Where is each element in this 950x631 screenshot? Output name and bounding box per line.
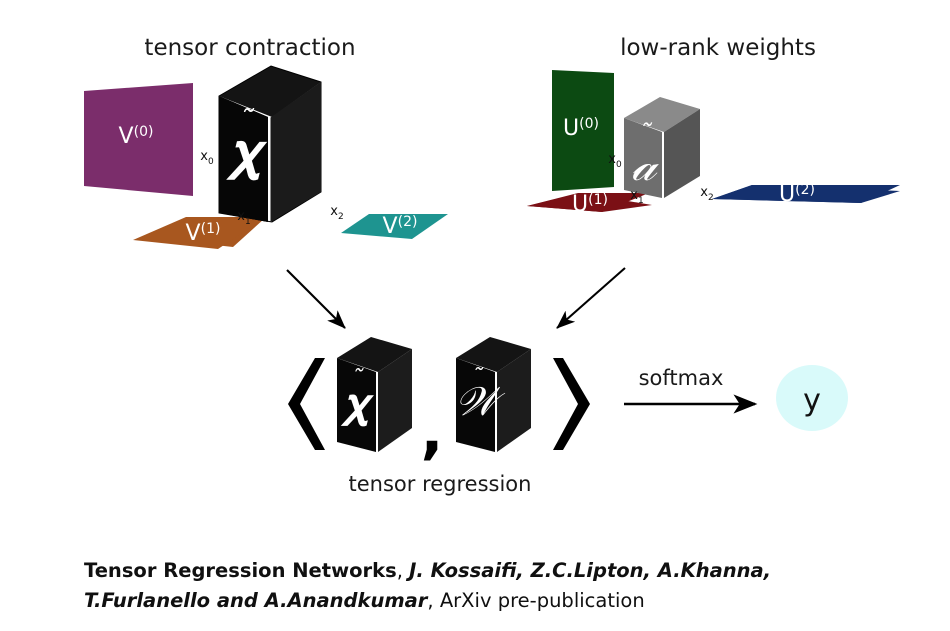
caption-sep-2: , (427, 589, 439, 612)
factor-matrix-u1-label: U(1) (572, 192, 608, 217)
core-tensor-cube: 𝒶 ˜ (624, 97, 700, 198)
section-title-low-rank-weights: low-rank weights (620, 35, 816, 61)
regression-weight-cube: 𝒲 ˜ (455, 337, 531, 452)
axis-label-x0-left: x0 (200, 149, 214, 167)
softmax-output-group: softmax y (624, 365, 848, 431)
output-node-label: y (803, 383, 821, 418)
softmax-label: softmax (639, 366, 724, 390)
axis-label-x2-left: x2 (330, 204, 343, 222)
regression-activation-cube: 𝛘 ˜ (337, 337, 412, 452)
factor-matrix-v2: V(2) (341, 214, 448, 239)
core-tensor-tilde: ˜ (639, 120, 653, 150)
low-rank-weights-group: low-rank weights U(0) U(1) U(2) (527, 35, 900, 217)
inner-product-open-bracket (288, 358, 325, 450)
axis-label-x2-right: x2 (700, 185, 713, 203)
tensor-regression-group: 𝛘 ˜ , 𝒲 ˜ tensor regression (288, 337, 590, 496)
reg-activation-tilde: ˜ (351, 365, 364, 393)
arrow-contraction-to-regression (287, 270, 345, 328)
section-title-tensor-contraction: tensor contraction (144, 35, 355, 61)
factor-matrix-v0: V(0) (84, 83, 193, 196)
tensor-regression-diagram: tensor contraction V(0) V(1) V(2) (0, 0, 950, 631)
arrow-weights-to-regression (557, 268, 625, 328)
caption-venue: ArXiv pre-publication (440, 589, 645, 612)
reg-weight-tilde: ˜ (471, 365, 484, 391)
figure-caption: Tensor Regression Networks, J. Kossaifi,… (84, 556, 884, 616)
caption-title: Tensor Regression Networks (84, 559, 397, 582)
caption-sep-1: , (397, 559, 409, 582)
inner-product-close-bracket (553, 358, 590, 450)
figure-canvas: tensor contraction V(0) V(1) V(2) (0, 0, 950, 631)
factor-matrix-u2-label: U(2) (779, 182, 815, 207)
activation-tensor-tilde: ˜ (239, 104, 255, 139)
activation-tensor-cube: 𝛘 ˜ (219, 66, 321, 222)
factor-matrix-u2: U(2) (712, 182, 900, 207)
tensor-regression-caption: tensor regression (349, 472, 532, 496)
factor-matrix-u0: U(0) (552, 70, 614, 191)
inner-product-comma: , (421, 397, 444, 467)
tensor-contraction-group: tensor contraction V(0) V(1) V(2) (84, 35, 448, 249)
